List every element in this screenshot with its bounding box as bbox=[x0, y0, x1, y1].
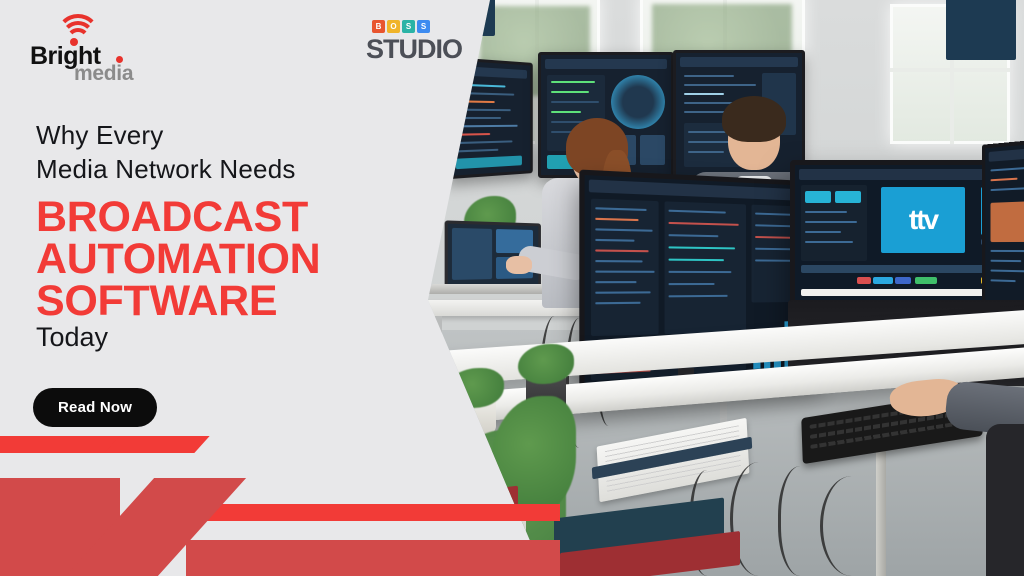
headline-line-2: Media Network Needs bbox=[36, 152, 296, 186]
decorative-stripes bbox=[0, 420, 560, 576]
headline-emphasis-2: AUTOMATION bbox=[36, 238, 320, 280]
partner-block-s1: S bbox=[402, 20, 415, 33]
stripe-block-lower bbox=[186, 540, 560, 576]
promo-banner: ttv ttv bbox=[0, 0, 1024, 576]
headline-emphasis-1: BROADCAST bbox=[36, 196, 320, 238]
partner-block-o: O bbox=[387, 20, 400, 33]
brand-accent-dot bbox=[116, 56, 123, 63]
headline-line-1: Why Every bbox=[36, 118, 296, 152]
headline-line-3: Today bbox=[36, 322, 108, 353]
channel-logo-text: ttv bbox=[909, 204, 937, 236]
monitor-back-left bbox=[447, 57, 533, 180]
headline-emphasis-3: SOFTWARE bbox=[36, 280, 320, 322]
stripe-thin-diagonal bbox=[104, 436, 209, 453]
partner-block-s2: S bbox=[417, 20, 430, 33]
brand-logo[interactable]: Bright media bbox=[30, 12, 150, 72]
partner-logo-word: STUDIO bbox=[366, 34, 462, 65]
stripe-thin-upper bbox=[0, 436, 122, 453]
desk-leg bbox=[435, 316, 442, 436]
partner-logo-blocks: B O S S bbox=[372, 20, 430, 33]
headline-emphasis: BROADCAST AUTOMATION SOFTWARE bbox=[36, 196, 320, 322]
partner-block-b: B bbox=[372, 20, 385, 33]
cable bbox=[820, 476, 883, 576]
person-seated-foreground bbox=[986, 424, 1024, 576]
headline-intro: Why Every Media Network Needs bbox=[36, 118, 296, 186]
wall-panel bbox=[946, 0, 1016, 60]
stripe-thin-lower bbox=[188, 504, 560, 521]
preview-screen-main: ttv bbox=[881, 187, 965, 253]
brand-name-secondary: media bbox=[74, 62, 133, 86]
partner-logo[interactable]: B O S S STUDIO bbox=[366, 20, 466, 66]
laptop-base bbox=[428, 284, 552, 294]
